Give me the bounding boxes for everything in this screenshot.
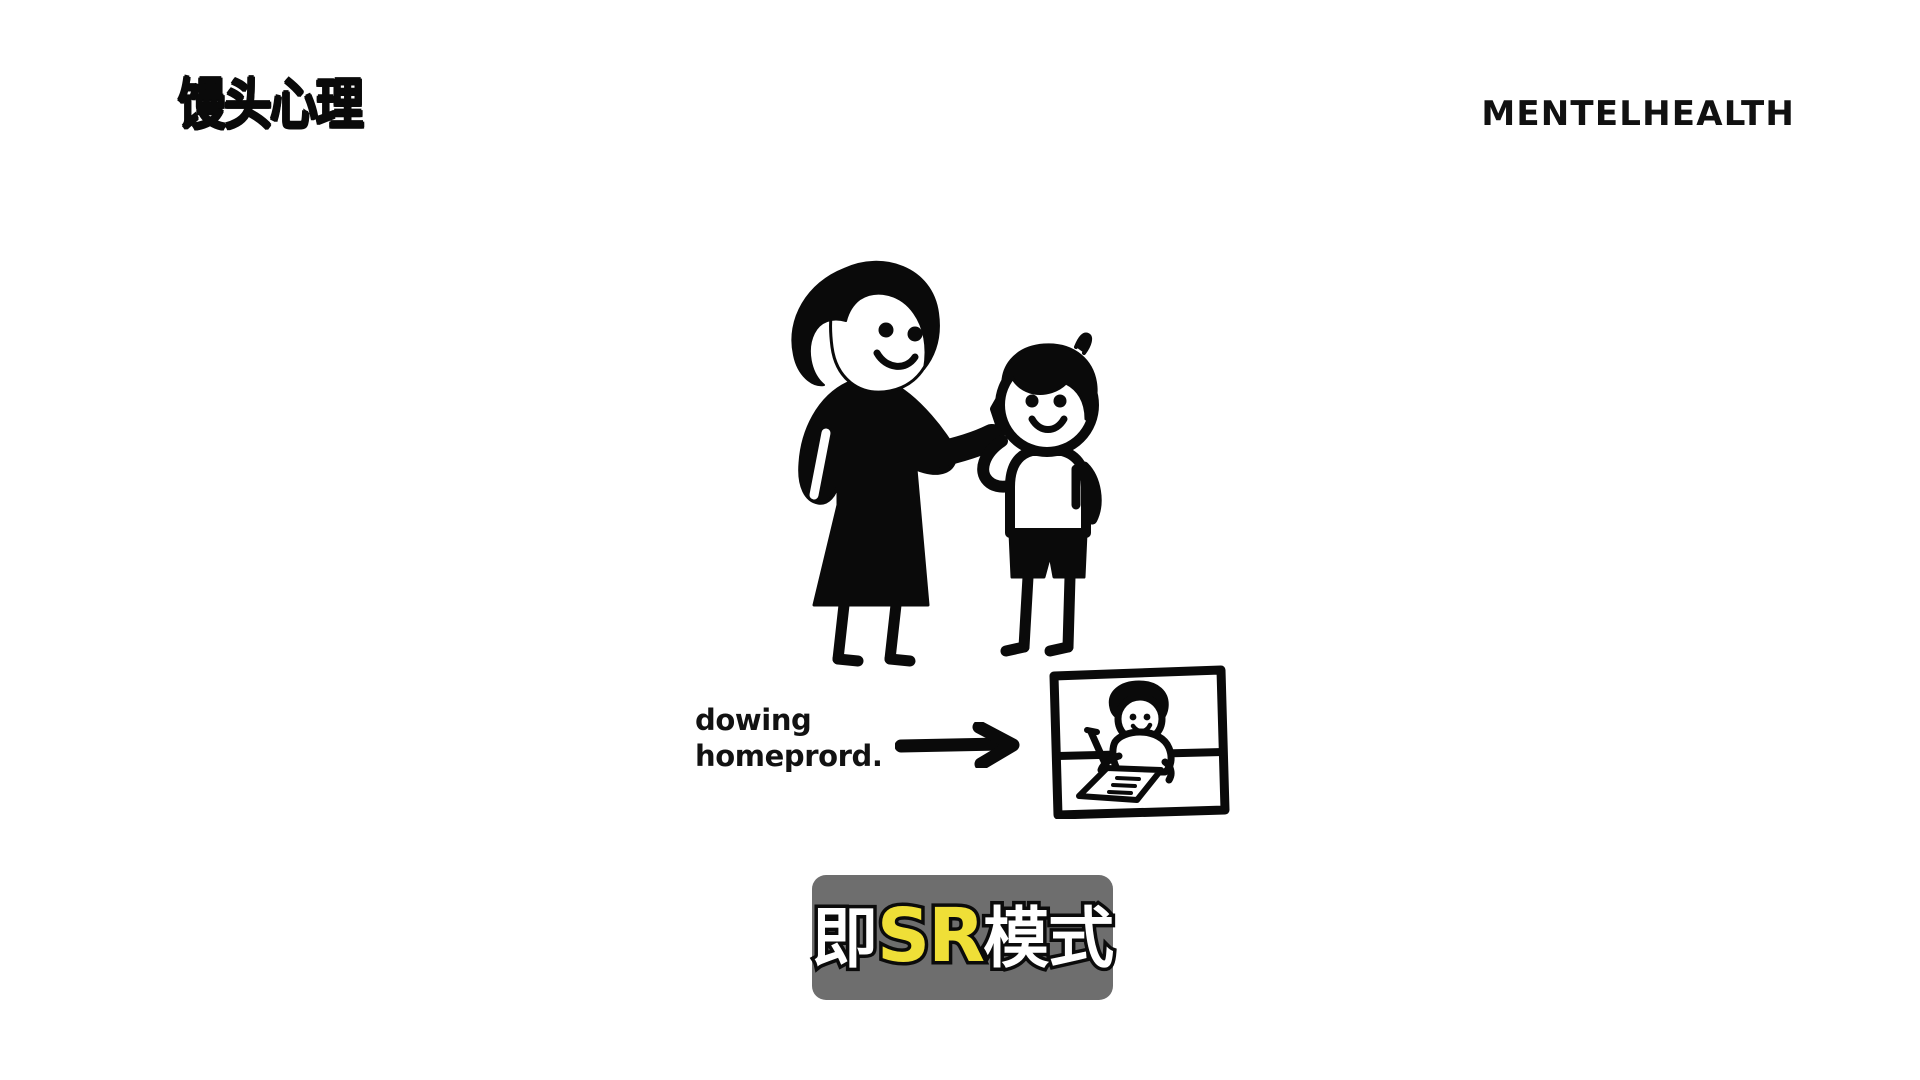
arrow-right-icon bbox=[895, 722, 1025, 768]
figure-child bbox=[983, 335, 1096, 652]
mode-toggle-label: 即SR模式 bbox=[812, 899, 1113, 973]
caption-line-1: dowing bbox=[695, 702, 910, 738]
mode-toggle-button[interactable]: 即SR模式 bbox=[812, 875, 1113, 1000]
mode-label-highlight: SR bbox=[877, 893, 983, 979]
caption-row: dowing homeprord. bbox=[690, 660, 1260, 825]
caption-text: dowing homeprord. bbox=[695, 702, 910, 775]
page-canvas: 馒头心理 MENTELHEALTH bbox=[0, 0, 1920, 1080]
illustration-mother-and-child bbox=[740, 255, 1220, 675]
caption-line-2: homeprord. bbox=[695, 738, 910, 774]
mode-label-suffix: 模式 bbox=[983, 900, 1113, 977]
mode-label-prefix: 即 bbox=[812, 900, 877, 977]
figure-mother bbox=[792, 262, 992, 661]
brand-wordmark: MENTELHEALTH bbox=[1481, 97, 1795, 131]
photo-frame-homework bbox=[1045, 664, 1230, 819]
brand-logo: 馒头心理 bbox=[178, 78, 362, 133]
